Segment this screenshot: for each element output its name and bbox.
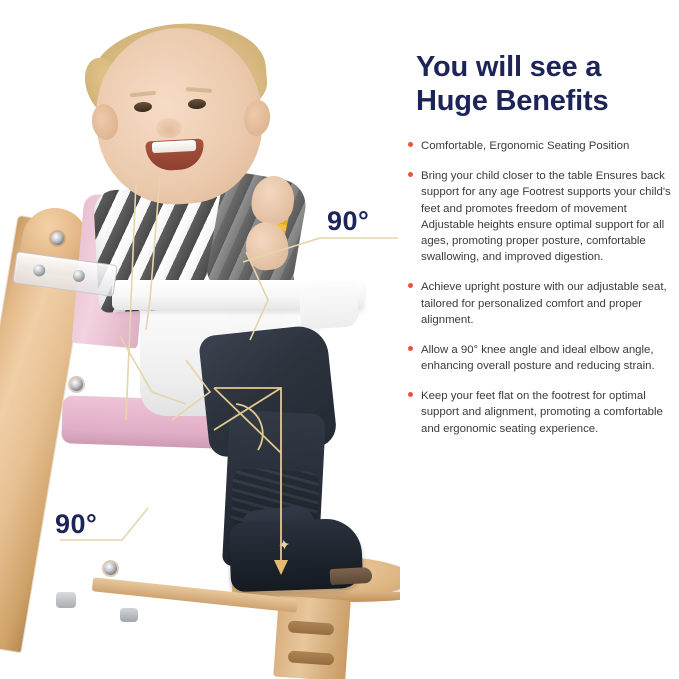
list-item: Keep your feet flat on the footrest for … xyxy=(404,388,672,437)
child-teeth xyxy=(152,140,197,153)
angle-label-knee: 90° xyxy=(55,509,97,540)
list-item: Achieve upright posture with our adjusta… xyxy=(404,279,672,328)
benefits-list: Comfortable, Ergonomic Seating Position … xyxy=(404,138,672,451)
promo-banner: ✦ xyxy=(0,0,679,679)
product-photo: ✦ xyxy=(0,0,400,679)
bullet-dot-icon xyxy=(408,346,413,351)
star-icon: ✦ xyxy=(277,535,292,555)
bullet-dot-icon xyxy=(408,283,413,288)
bracket-bolt-left xyxy=(32,264,46,278)
child-nose xyxy=(156,118,182,138)
list-item-text: Comfortable, Ergonomic Seating Position xyxy=(421,138,672,154)
benefits-text-panel: You will see a Huge Benefits Comfortable… xyxy=(400,0,679,679)
chair-bolt-mid xyxy=(70,378,83,391)
bullet-dot-icon xyxy=(408,392,413,397)
list-item: Bring your child closer to the table Ens… xyxy=(404,168,672,265)
page-title: You will see a Huge Benefits xyxy=(416,50,666,118)
list-item-text: Achieve upright posture with our adjusta… xyxy=(421,279,672,328)
list-item-text: Bring your child closer to the table Ens… xyxy=(421,168,672,265)
headline-line-1: You will see a xyxy=(416,50,666,84)
angle-label-elbow: 90° xyxy=(327,206,369,237)
high-chair-tray-lip xyxy=(299,281,359,330)
list-item: Comfortable, Ergonomic Seating Position xyxy=(404,138,672,154)
chair-bolt-top xyxy=(51,232,64,245)
bullet-dot-icon xyxy=(408,142,413,147)
list-item: Allow a 90° knee angle and ideal elbow a… xyxy=(404,342,672,374)
bullet-dot-icon xyxy=(408,172,413,177)
list-item-text: Keep your feet flat on the footrest for … xyxy=(421,388,672,437)
chair-foot-cap xyxy=(56,592,76,608)
list-item-text: Allow a 90° knee angle and ideal elbow a… xyxy=(421,342,672,374)
boot-sole xyxy=(330,567,373,585)
headline-line-2: Huge Benefits xyxy=(416,84,666,118)
chair-bolt-low xyxy=(104,562,117,575)
chair-foot-cap xyxy=(120,608,138,622)
bracket-bolt-right xyxy=(72,269,86,283)
